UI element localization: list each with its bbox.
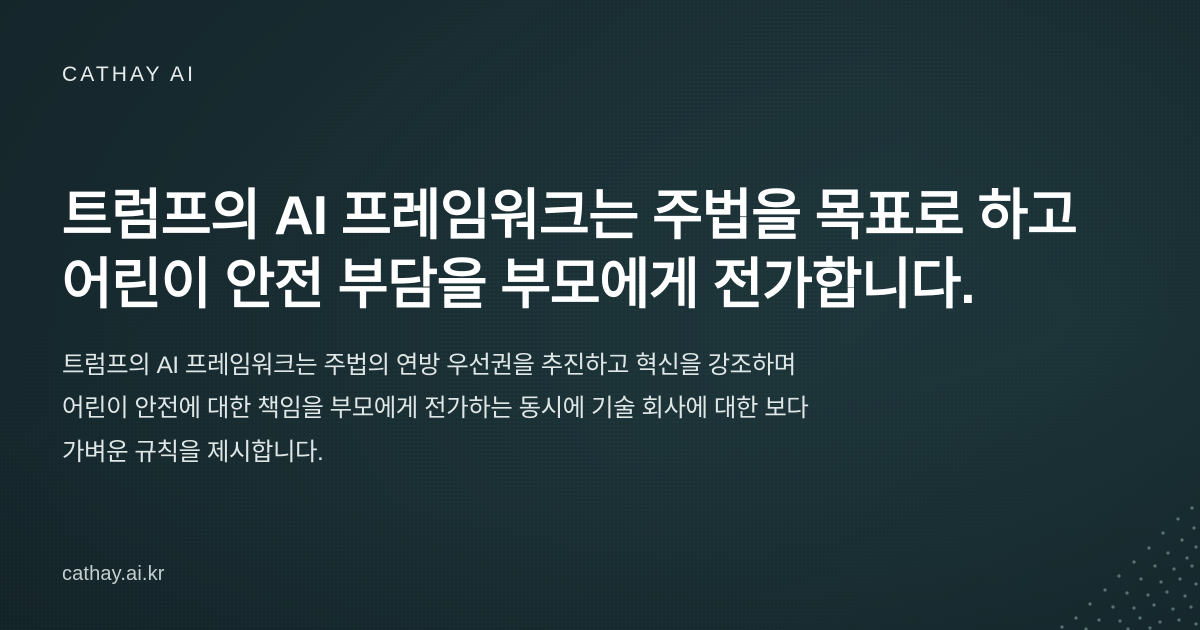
site-url-label: cathay.ai.kr bbox=[62, 564, 1138, 584]
headline-title: 트럼프의 AI 프레임워크는 주법을 목표로 하고 어린이 안전 부담을 부모에… bbox=[62, 181, 1122, 320]
card-body: 트럼프의 AI 프레임워크는 주법을 목표로 하고 어린이 안전 부담을 부모에… bbox=[62, 181, 1138, 474]
headline-summary: 트럼프의 AI 프레임워크는 주법의 연방 우선권을 추진하고 혁신을 강조하며… bbox=[62, 344, 852, 475]
card-footer: cathay.ai.kr bbox=[62, 564, 1138, 584]
brand-wordmark: CATHAY AI bbox=[62, 64, 1138, 85]
social-share-card: CATHAY AI 트럼프의 AI 프레임워크는 주법을 목표로 하고 어린이 … bbox=[0, 0, 1200, 630]
card-content: CATHAY AI 트럼프의 AI 프레임워크는 주법을 목표로 하고 어린이 … bbox=[0, 0, 1200, 630]
